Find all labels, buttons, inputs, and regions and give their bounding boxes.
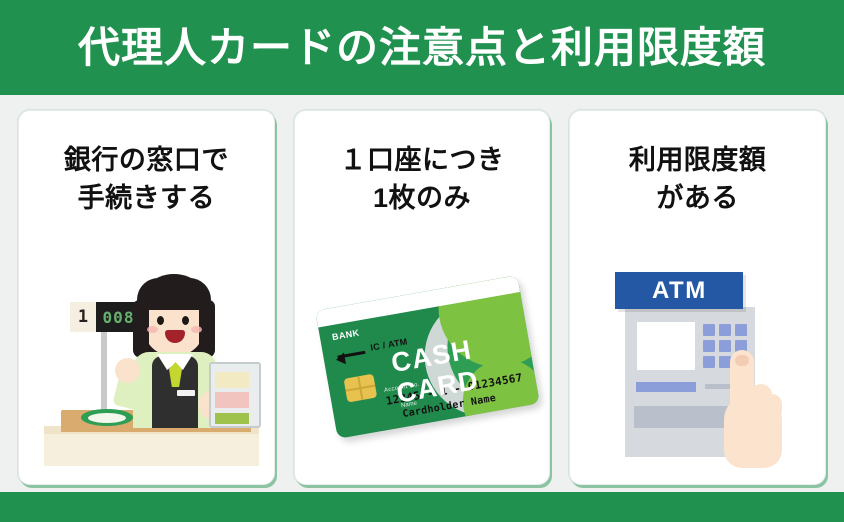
hand-fingernail [735,355,749,366]
cash-card-illustration: BANK IC / ATM CASH CARD Account No. 1234… [295,254,550,484]
header-bar: 代理人カードの注意点と利用限度額 [0,0,844,95]
teller-name-badge [177,390,195,396]
card-title-2: １口座につき 1枚のみ [295,141,550,218]
teller-raised-hand [115,358,140,383]
atm-card-slot [636,382,696,392]
card-title-1: 銀行の窓口で 手続きする [19,141,274,218]
card-row: 銀行の窓口で 手続きする 1 008 [18,110,826,485]
page-title: 代理人カードの注意点と利用限度額 [78,27,766,69]
cash-card-insert-arrow-icon [337,351,365,359]
atm-cash-tray [634,406,729,428]
bank-teller-illustration: 1 008 [19,254,274,484]
card-bank-counter[interactable]: 銀行の窓口で 手続きする 1 008 [18,110,275,485]
atm-key [703,340,715,352]
atm-key [719,324,731,336]
card-title-2-line1: １口座につき [295,141,550,179]
cash-card-graphic: BANK IC / ATM CASH CARD Account No. 1234… [315,275,539,439]
cash-tray-inner [88,413,126,423]
atm-banner: ATM [615,272,743,309]
card-one-per-account[interactable]: １口座につき 1枚のみ BANK IC / ATM CASH CARD [294,110,551,485]
cash-card-bank-label: BANK [331,328,360,343]
teller-eye-left [157,316,164,325]
card-title-2-line2: 1枚のみ [295,179,550,217]
slide-canvas: 代理人カードの注意点と利用限度額 銀行の窓口で 手続きする 1 008 [0,0,844,522]
atm-banner-label: ATM [652,277,707,305]
document-sheet-2 [215,392,249,408]
teller-cheek-right [191,326,202,333]
document-sheet-1 [215,372,249,388]
teller-eye-right [182,316,189,325]
atm-key [703,356,715,368]
card-title-3: 利用限度額 がある [570,141,825,218]
card-usage-limit[interactable]: 利用限度額 がある ATM [569,110,826,485]
cash-card-ic-chip-icon [343,374,377,403]
card-title-3-line1: 利用限度額 [570,141,825,179]
document-sheet-3 [215,413,249,424]
queue-number-plate: 1 [70,302,96,332]
atm-key [735,324,747,336]
queue-sign-pole [101,324,107,410]
card-title-3-line2: がある [570,179,825,217]
card-title-1-line2: 手続きする [19,179,274,217]
card-title-1-line1: 銀行の窓口で [19,141,274,179]
atm-illustration: ATM [570,254,825,484]
teller-cheek-left [147,326,158,333]
footer-bar [0,492,844,522]
pointing-hand-icon [716,350,782,470]
hand-knuckle-3 [762,394,782,420]
atm-screen [637,322,695,370]
atm-key [703,324,715,336]
